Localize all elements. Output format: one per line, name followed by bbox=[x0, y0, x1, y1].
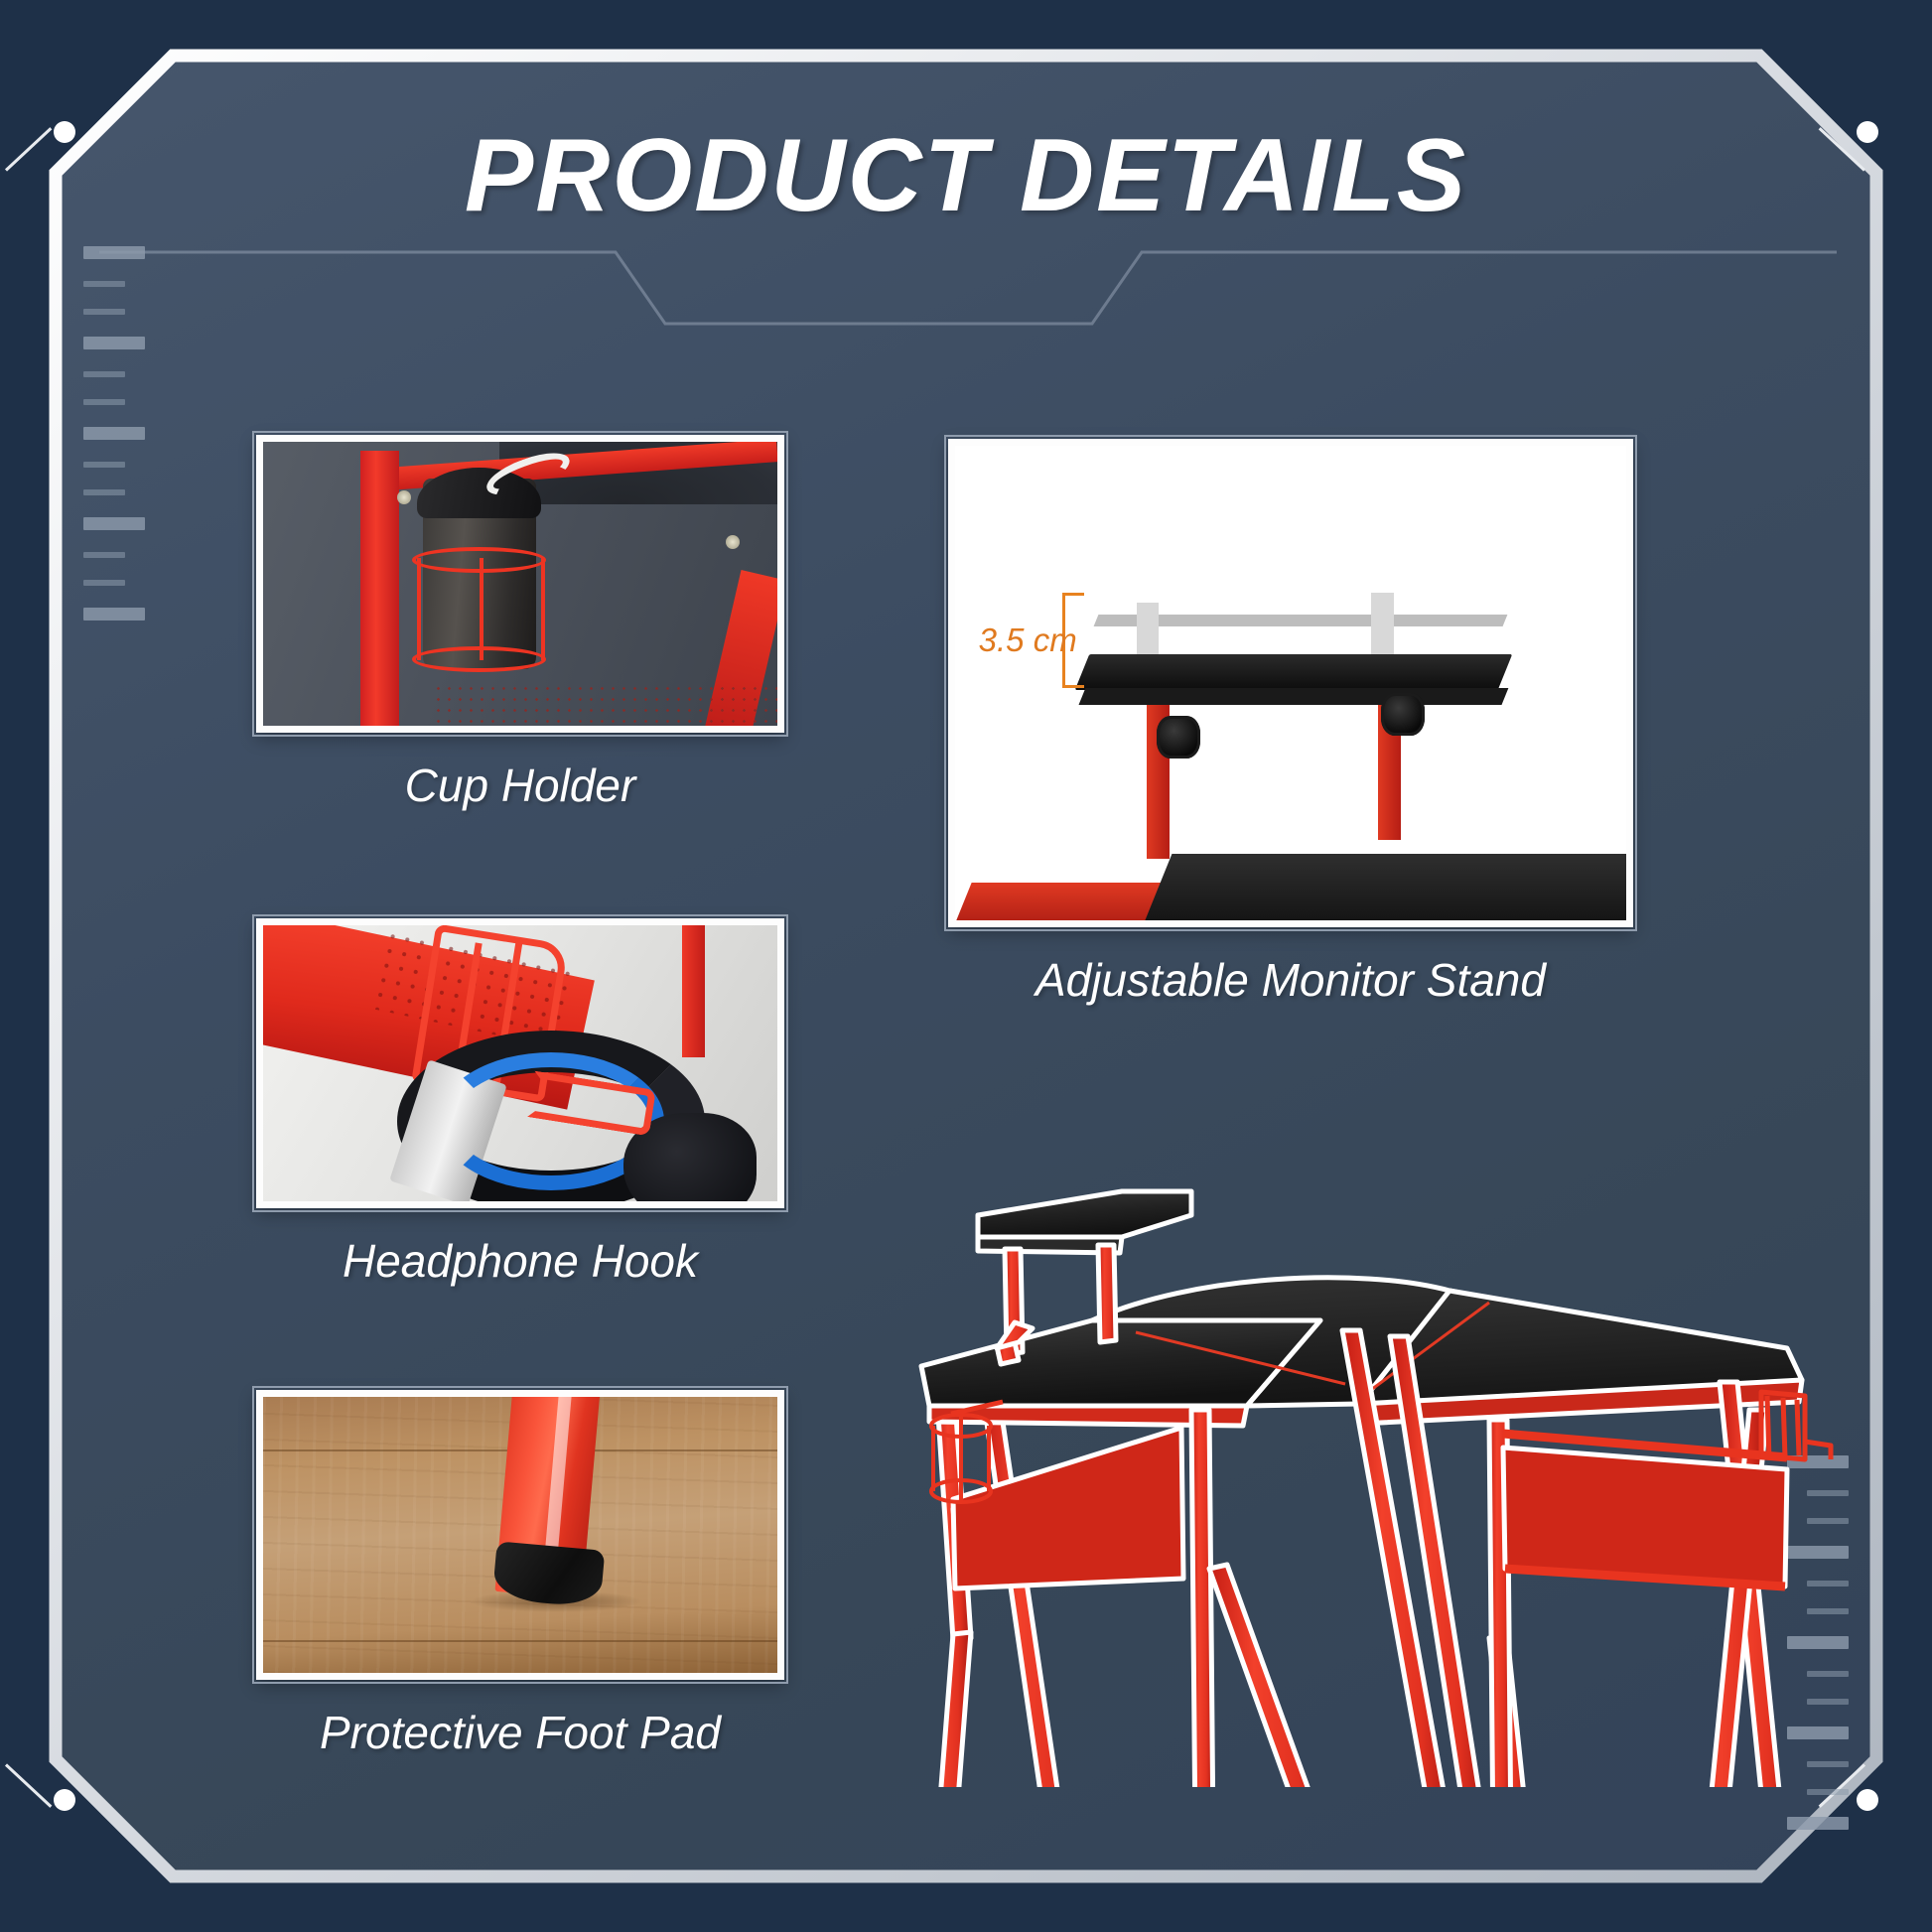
shelf-ghost-low bbox=[1081, 731, 1506, 768]
headphone-hook-illustration bbox=[263, 925, 777, 1201]
shelf-current-position bbox=[1075, 654, 1512, 690]
feature-card-foot-pad: Protective Foot Pad bbox=[256, 1390, 784, 1759]
headphone-hook-photo bbox=[256, 918, 784, 1208]
foot-pad-photo bbox=[256, 1390, 784, 1680]
desk-leg-post bbox=[682, 925, 705, 1057]
cup-holder-wire-right bbox=[541, 558, 545, 660]
title-divider-rule bbox=[99, 234, 1837, 353]
desktop-surface bbox=[1141, 854, 1633, 927]
feature-card-headphone-hook: Headphone Hook bbox=[256, 918, 784, 1288]
cup-holder-wire-mid bbox=[480, 558, 483, 660]
corner-leader-bl bbox=[5, 1763, 52, 1807]
foot-pad-illustration bbox=[263, 1397, 777, 1673]
desk-frame-vertical-post bbox=[360, 451, 399, 726]
feature-card-monitor-stand: 3.5 cm Adjustable Monitor Stand bbox=[948, 439, 1633, 1007]
cup-holder-illustration bbox=[263, 442, 777, 726]
cup-holder-caption: Cup Holder bbox=[256, 759, 784, 812]
monitor-stand-caption: Adjustable Monitor Stand bbox=[948, 953, 1633, 1007]
infographic-canvas: PRODUCT DETAILS bbox=[0, 0, 1932, 1932]
corner-dot-bl bbox=[54, 1789, 75, 1811]
shelf-current-edge bbox=[1079, 688, 1509, 705]
dimension-label: 3.5 cm bbox=[979, 621, 1077, 659]
floor-plank-seam-bottom bbox=[263, 1640, 777, 1642]
page-title: PRODUCT DETAILS bbox=[0, 117, 1932, 235]
frame-screw-left bbox=[397, 490, 411, 504]
ruler-decoration-left bbox=[83, 246, 145, 621]
frame-screw-right bbox=[726, 535, 740, 549]
height-adjustment-knob-right bbox=[1381, 693, 1425, 736]
cup-holder-photo bbox=[256, 435, 784, 733]
height-adjustment-knob-left bbox=[1157, 716, 1200, 759]
headphone-hook-caption: Headphone Hook bbox=[256, 1234, 784, 1288]
foot-pad-caption: Protective Foot Pad bbox=[256, 1706, 784, 1759]
hero-desk-illustration bbox=[894, 1172, 1837, 1787]
cup-holder-wire-left bbox=[417, 558, 421, 660]
monitor-stand-illustration: 3.5 cm bbox=[955, 446, 1626, 920]
corner-dot-br bbox=[1857, 1789, 1878, 1811]
feature-card-cup-holder: Cup Holder bbox=[256, 435, 784, 812]
perforated-panel bbox=[433, 683, 777, 726]
monitor-stand-photo: 3.5 cm bbox=[948, 439, 1633, 927]
